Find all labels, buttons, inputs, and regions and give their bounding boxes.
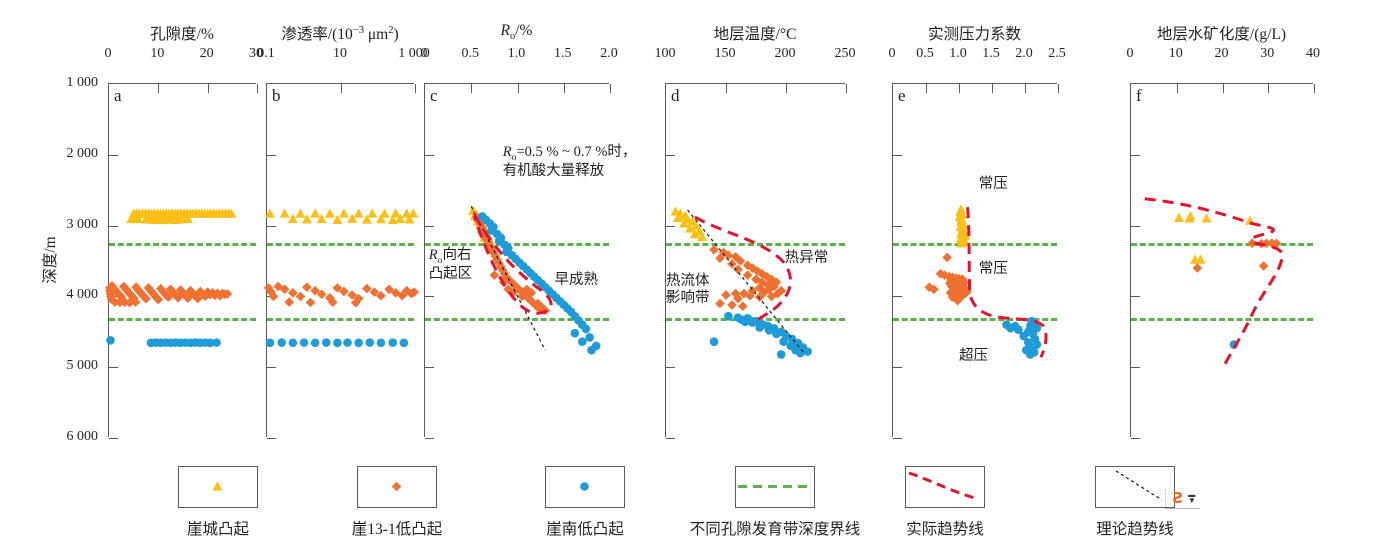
- panel-e-axis-title: 实测压力系数: [892, 22, 1057, 44]
- legend-icon-pore-boundary: [736, 467, 813, 506]
- note-thermal-anomaly: 热异常: [785, 250, 829, 266]
- legend-label-ya13-1: 崖13-1低凸起: [352, 517, 442, 539]
- note-line-1: Ro=0.5 % ~ 0.7 %时，: [503, 144, 637, 160]
- panel-c-y-tick-6000: [425, 438, 434, 439]
- panel-e-xtick-label-2.5: 2.5: [1048, 46, 1066, 62]
- legend-label-yacheng: 崖城凸起: [187, 517, 249, 539]
- panel-a-xtick-30: [257, 84, 258, 93]
- y-tick-label-2000: 2 000: [28, 146, 98, 162]
- note-line-2: 影响带: [666, 290, 710, 306]
- panel-a-axis-title: 孔隙度/%: [108, 22, 256, 44]
- ime-floating-widget[interactable]: S ▬▼: [1165, 489, 1200, 509]
- panel-f-xtick-40: [1314, 84, 1315, 93]
- note-line-1: 超压: [959, 348, 988, 364]
- panel-b-y-tick-6000: [267, 438, 276, 439]
- ime-expand-icon[interactable]: ▬▼: [1188, 493, 1196, 505]
- sogou-s-icon[interactable]: S: [1172, 491, 1183, 506]
- panel-e: e常压常压超压: [892, 83, 1057, 437]
- panel-c-xtick-label-2: 2.0: [600, 46, 618, 62]
- panel-b-xtick-1000: [415, 84, 416, 93]
- note-line-2: 凸起区: [429, 266, 473, 282]
- note-line-1: 热异常: [785, 250, 829, 266]
- panel-a-scatter: [109, 84, 257, 438]
- panel-e-xtick-2.5: [1058, 84, 1059, 93]
- panel-c-xtick-label-0: 0: [421, 46, 428, 62]
- panel-d-y-tick-6000: [666, 438, 675, 439]
- legend-swatch-yacheng: [178, 466, 258, 508]
- panel-e-scatter: [893, 84, 1058, 438]
- panel-e-xtick-label-2: 2.0: [1015, 46, 1033, 62]
- panel-f-xtick-label-30: 30: [1260, 46, 1274, 62]
- y-tick-6000: [109, 438, 118, 439]
- y-tick-label-4000: 4 000: [28, 287, 98, 303]
- panel-e-xtick-label-1: 1.0: [949, 46, 967, 62]
- panel-b-scatter: [267, 84, 415, 438]
- panel-a-xtick-label-0: 0: [105, 46, 112, 62]
- note-ro-release: Ro=0.5 % ~ 0.7 %时，有机酸大量释放: [503, 144, 637, 179]
- panel-f-xtick-label-10: 10: [1169, 46, 1183, 62]
- panel-e-xtick-label-1.5: 1.5: [982, 46, 1000, 62]
- panel-c-xtick-2: [610, 84, 611, 93]
- note-line-1: 热流体: [666, 273, 710, 289]
- note-normal-pressure-upper: 常压: [979, 176, 1008, 192]
- note-early-mature: 早成熟: [555, 272, 599, 288]
- note-ro-bulge: Ro向右凸起区: [429, 247, 473, 282]
- panel-b: b: [266, 83, 414, 437]
- panel-d: d热流体影响带热异常: [665, 83, 845, 437]
- panel-d-xtick-label-100: 100: [655, 46, 676, 62]
- note-line-1: 早成熟: [555, 272, 599, 288]
- legend-swatch-theory-trend: [1095, 466, 1175, 508]
- legend-label-yanan: 崖南低凸起: [546, 517, 624, 539]
- panel-f-axis-title: 地层水矿化度/(g/L): [1130, 22, 1313, 44]
- panel-c-xtick-label-1.5: 1.5: [554, 46, 572, 62]
- legend-icon-yanan: [546, 467, 623, 506]
- panel-d-xtick-label-200: 200: [775, 46, 796, 62]
- panel-a-xtick-label-10: 10: [150, 46, 164, 62]
- legend-swatch-ya13-1: [357, 466, 437, 508]
- panel-c-xtick-label-1: 1.0: [508, 46, 526, 62]
- panel-f-scatter: [1131, 84, 1314, 438]
- panel-e-y-tick-6000: [893, 438, 902, 439]
- panel-f-xtick-label-40: 40: [1306, 46, 1320, 62]
- note-line-1: 常压: [979, 176, 1008, 192]
- legend-label-pore-boundary: 不同孔隙发育带深度界线: [690, 517, 861, 539]
- y-tick-label-3000: 3 000: [28, 217, 98, 233]
- y-tick-label-6000: 6 000: [28, 429, 98, 445]
- panel-c: cRo=0.5 % ~ 0.7 %时，有机酸大量释放Ro向右凸起区早成熟: [424, 83, 609, 437]
- legend-swatch-pore-boundary: [735, 466, 815, 508]
- legend-label-actual-trend: 实际趋势线: [906, 517, 984, 539]
- y-tick-label-5000: 5 000: [28, 358, 98, 374]
- note-line-2: 有机酸大量释放: [503, 163, 605, 179]
- legend-icon-ya13-1: [358, 467, 435, 506]
- note-line-1: 常压: [979, 261, 1008, 277]
- panel-f-y-tick-6000: [1131, 438, 1140, 439]
- panel-b-xtick-label-10: 10: [333, 46, 347, 62]
- panel-f: f: [1130, 83, 1313, 437]
- panel-f-xtick-label-0: 0: [1127, 46, 1134, 62]
- panel-c-axis-title: Ro/%: [424, 22, 609, 42]
- panel-b-xtick-label-0.1: 0.1: [257, 46, 275, 62]
- panel-e-xtick-label-0: 0: [889, 46, 896, 62]
- panel-f-xtick-label-20: 20: [1215, 46, 1229, 62]
- y-tick-label-1000: 1 000: [28, 75, 98, 91]
- note-overpressure: 超压: [959, 348, 988, 364]
- panel-d-xtick-label-250: 250: [835, 46, 856, 62]
- panel-b-axis-title: 渗透率/(10−3 μm2): [266, 22, 414, 44]
- note-normal-pressure-lower: 常压: [979, 261, 1008, 277]
- six-panel-depth-figure: 深度/m 1 0002 0003 0004 0005 0006 000 孔隙度/…: [0, 0, 1390, 552]
- panel-d-axis-title: 地层温度/°C: [665, 22, 845, 44]
- panel-a-xtick-label-20: 20: [200, 46, 214, 62]
- panel-d-xtick-250: [846, 84, 847, 93]
- panel-e-xtick-label-0.5: 0.5: [916, 46, 934, 62]
- panel-c-xtick-label-0.5: 0.5: [462, 46, 480, 62]
- panel-a: a: [108, 83, 256, 437]
- legend-icon-yacheng: [179, 467, 256, 506]
- legend-label-theory-trend: 理论趋势线: [1096, 517, 1174, 539]
- panel-d-xtick-label-150: 150: [715, 46, 736, 62]
- note-line-1: Ro向右: [429, 247, 472, 263]
- legend-icon-theory-trend: [1096, 467, 1173, 506]
- legend-swatch-yanan: [545, 466, 625, 508]
- note-hot-fluid: 热流体影响带: [666, 273, 710, 305]
- legend-swatch-actual-trend: [905, 466, 985, 508]
- legend-icon-actual-trend: [906, 467, 983, 506]
